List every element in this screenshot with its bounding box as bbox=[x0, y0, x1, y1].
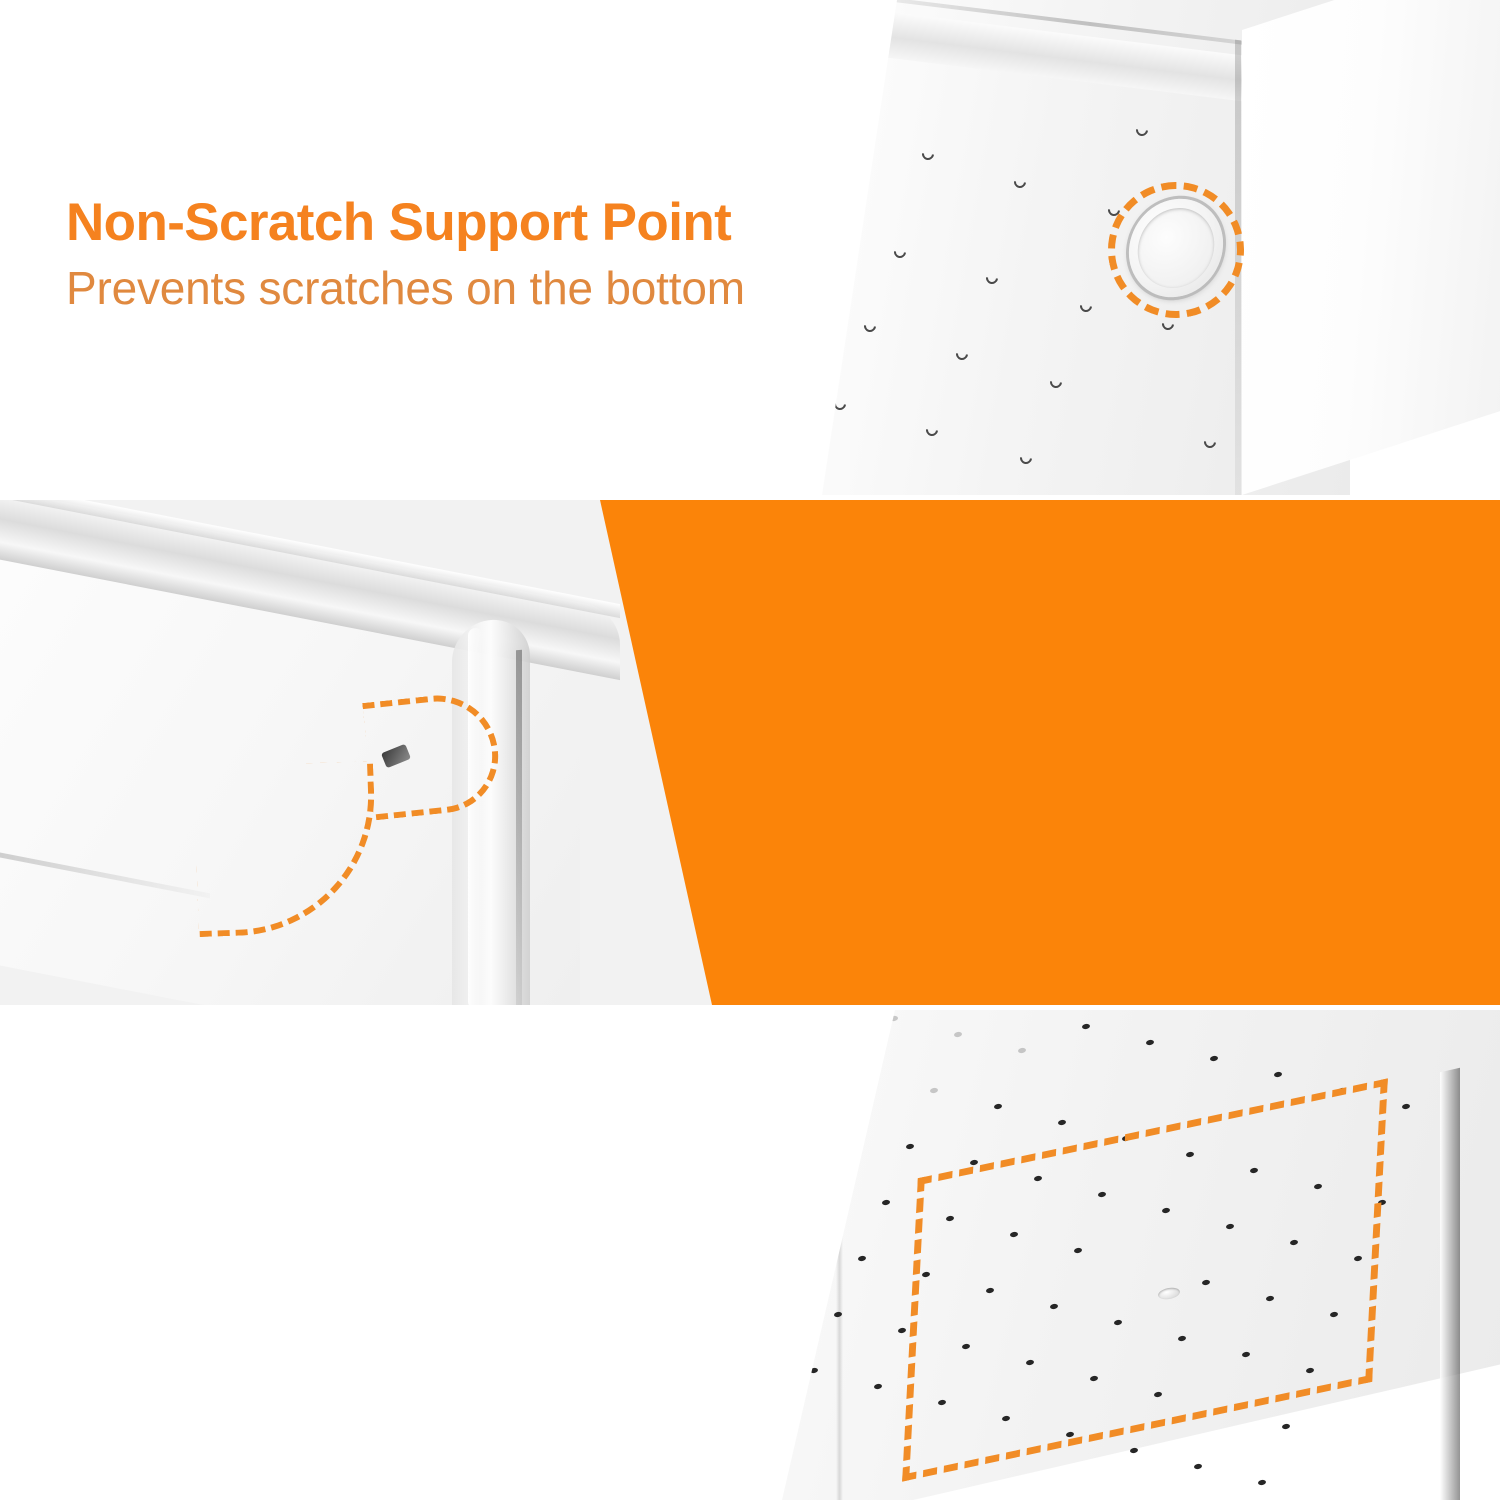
panel-1-subline: Prevents scratches on the bottom bbox=[66, 265, 745, 311]
tray-hole bbox=[842, 1127, 851, 1133]
tray-seam-line bbox=[836, 1010, 843, 1500]
photo-perforated-drain-tray bbox=[740, 1010, 1500, 1500]
left-edge-shadow bbox=[749, 0, 835, 495]
drain-hole-mark bbox=[786, 220, 803, 237]
feature-panel-pet-plastic: PET Plastic ultra-sturdy, so will not cr… bbox=[0, 1010, 1500, 1500]
photo-container-bottom-with-drain-holes bbox=[790, 0, 1500, 495]
feature-panel-round-corner-design: Round Corner Design Will not scratch the… bbox=[0, 500, 1500, 1005]
tray-left-edge bbox=[754, 1010, 764, 1500]
tray-hole bbox=[1130, 1447, 1139, 1453]
panel-1-headline: Non-Scratch Support Point bbox=[66, 196, 745, 249]
feature-panel-non-scratch-support-point: Non-Scratch Support Point Prevents scrat… bbox=[0, 0, 1500, 495]
tray-hole bbox=[770, 1295, 779, 1301]
container-side-face bbox=[1242, 0, 1500, 495]
tray-right-edge bbox=[1440, 1068, 1460, 1500]
tray-hole bbox=[818, 1183, 827, 1189]
corner-shadow-line bbox=[516, 650, 522, 1005]
tray-hole bbox=[794, 1239, 803, 1245]
product-feature-infographic: Non-Scratch Support Point Prevents scrat… bbox=[0, 0, 1500, 1500]
tray-hole bbox=[866, 1071, 875, 1077]
tray-hole bbox=[1282, 1423, 1291, 1429]
tray-hole bbox=[1194, 1463, 1203, 1469]
corner-highlight bbox=[468, 628, 482, 1005]
panel-1-text-block: Non-Scratch Support Point Prevents scrat… bbox=[66, 196, 745, 311]
tray-hole bbox=[1258, 1479, 1267, 1485]
